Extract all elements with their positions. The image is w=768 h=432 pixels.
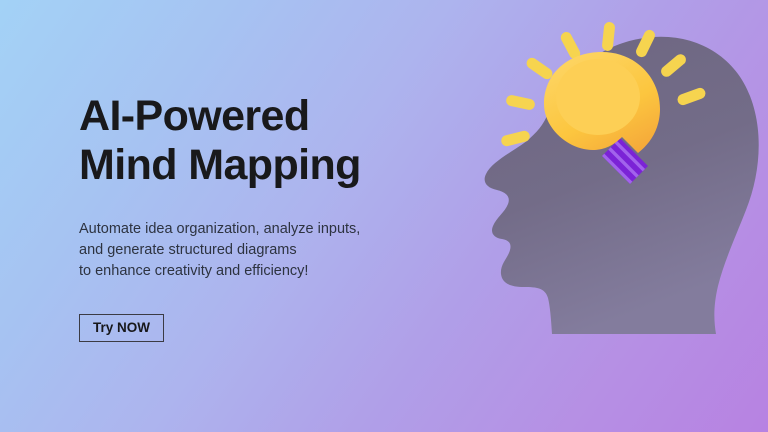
head-lightbulb-illustration <box>452 0 768 432</box>
try-now-button[interactable]: Try NOW <box>79 314 164 342</box>
banner-text-column: AI-Powered Mind Mapping Automate idea or… <box>79 92 459 190</box>
hero-banner: AI-Powered Mind Mapping Automate idea or… <box>0 0 768 432</box>
page-title: AI-Powered Mind Mapping <box>79 92 459 190</box>
banner-description: Automate idea organization, analyze inpu… <box>79 219 449 282</box>
